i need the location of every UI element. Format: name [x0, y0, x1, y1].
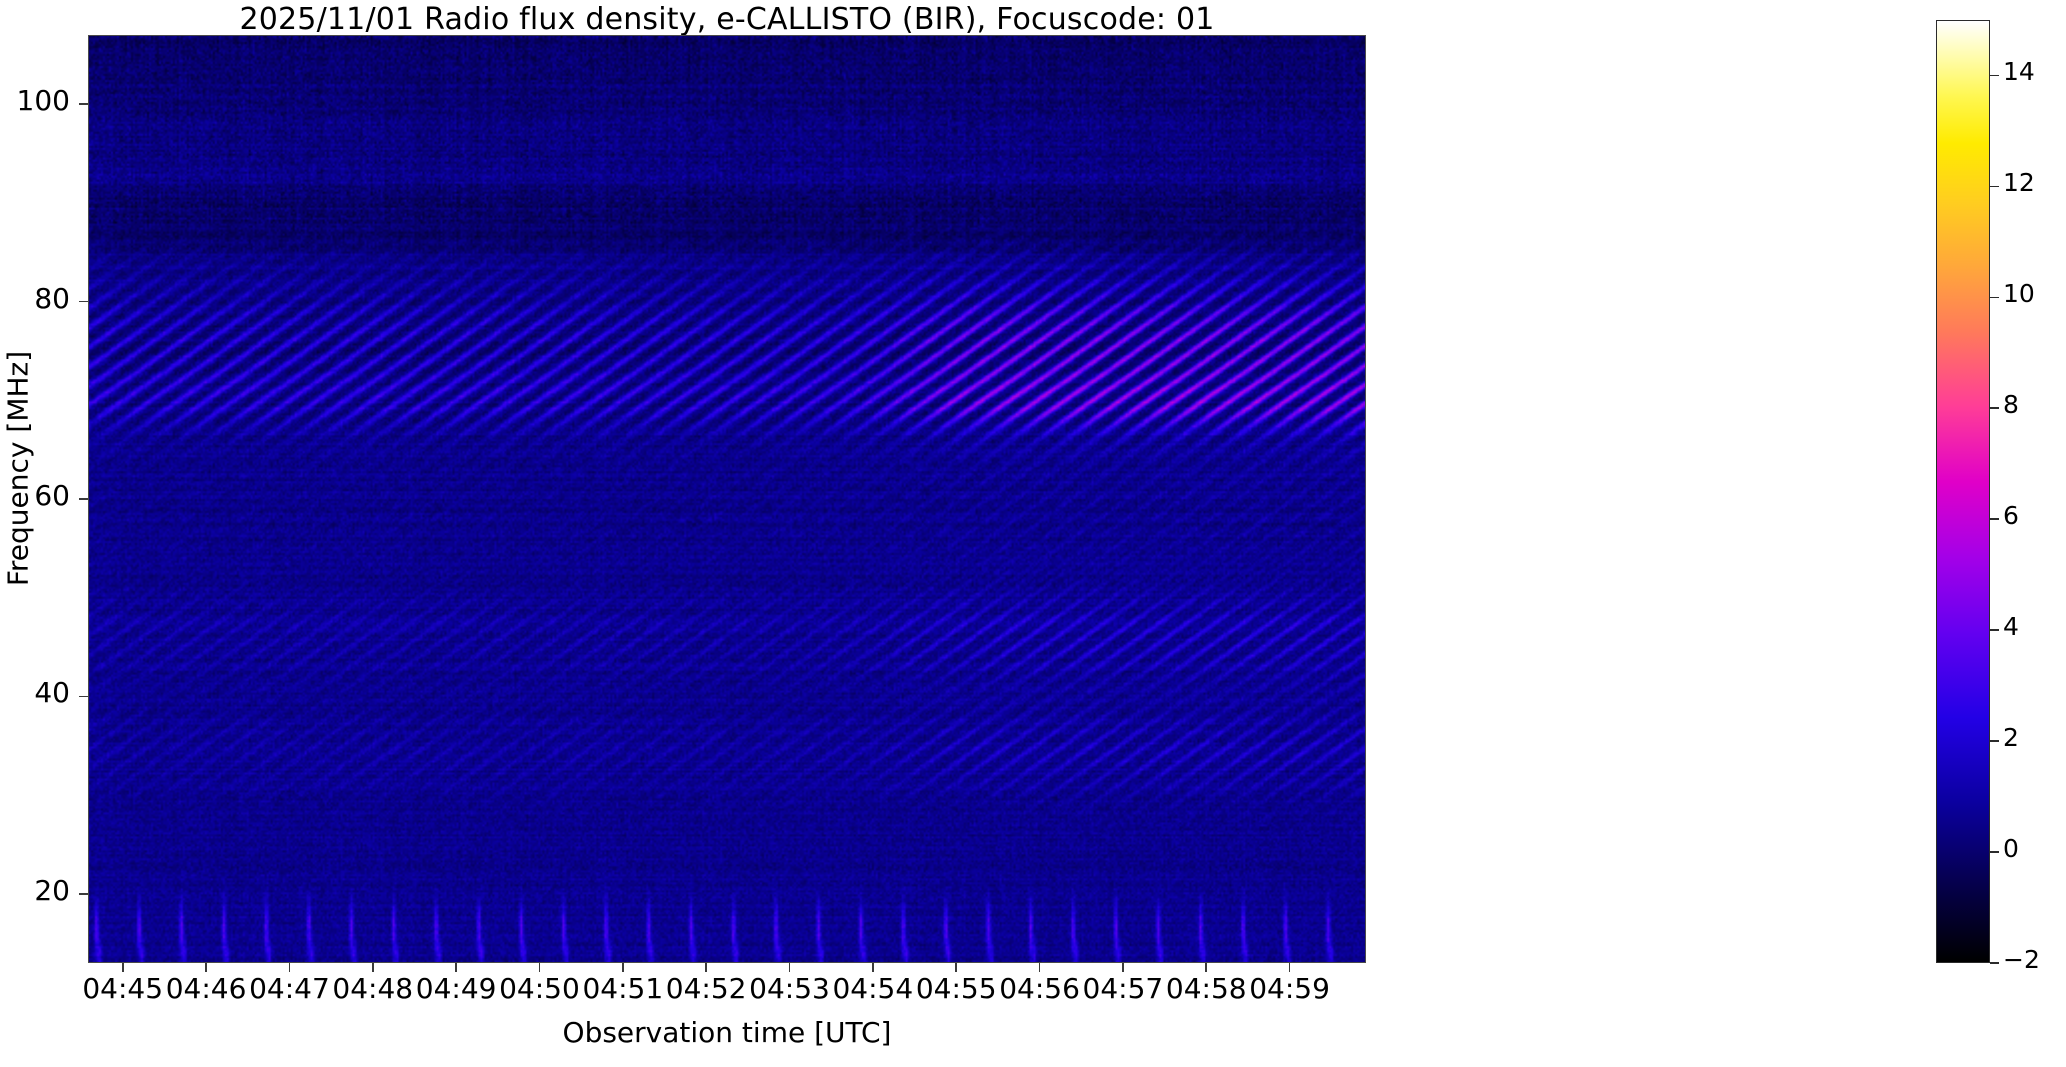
x-axis-label: Observation time [UTC] — [88, 1016, 1366, 1049]
x-tick-mark — [455, 963, 457, 972]
y-tick-label: 20 — [0, 874, 70, 907]
spectrogram-image — [89, 36, 1365, 962]
y-tick-mark — [79, 498, 88, 500]
x-tick-mark — [705, 963, 707, 972]
y-tick-mark — [79, 893, 88, 895]
colorbar-tick-mark — [1990, 962, 1999, 964]
spectrogram-axes[interactable] — [88, 35, 1366, 963]
x-tick-mark — [1205, 963, 1207, 972]
x-tick-mark — [955, 963, 957, 972]
colorbar-tick-label: 12 — [2003, 168, 2063, 197]
colorbar-tick-mark — [1990, 407, 1999, 409]
y-axis-label: Frequency [MHz] — [2, 4, 35, 934]
y-tick-mark — [79, 301, 88, 303]
colorbar-tick-label: 14 — [2003, 57, 2063, 86]
colorbar-gradient[interactable] — [1936, 20, 1990, 963]
y-tick-label: 40 — [0, 676, 70, 709]
colorbar-tick-label: −2 — [2003, 945, 2063, 974]
x-tick-mark — [205, 963, 207, 972]
y-tick-mark — [79, 696, 88, 698]
y-tick-label: 60 — [0, 479, 70, 512]
x-tick-mark — [872, 963, 874, 972]
colorbar-tick-mark — [1990, 75, 1999, 77]
colorbar-tick-label: 0 — [2003, 834, 2063, 863]
x-tick-mark — [622, 963, 624, 972]
y-tick-label: 80 — [0, 282, 70, 315]
colorbar-tick-mark — [1990, 740, 1999, 742]
figure-title: 2025/11/01 Radio flux density, e-CALLIST… — [88, 2, 1366, 37]
colorbar-tick-label: 8 — [2003, 390, 2063, 419]
colorbar-tick-mark — [1990, 851, 1999, 853]
colorbar-tick-label: 4 — [2003, 612, 2063, 641]
colorbar-tick-mark — [1990, 518, 1999, 520]
x-tick-label: 04:59 — [1210, 972, 1370, 1005]
x-tick-mark — [289, 963, 291, 972]
x-tick-mark — [1289, 963, 1291, 972]
colorbar-tick-mark — [1990, 297, 1999, 299]
x-tick-mark — [372, 963, 374, 972]
colorbar-tick-label: 6 — [2003, 501, 2063, 530]
y-tick-label: 100 — [0, 84, 70, 117]
x-tick-mark — [789, 963, 791, 972]
colorbar-tick-mark — [1990, 629, 1999, 631]
x-tick-mark — [1122, 963, 1124, 972]
colorbar-tick-mark — [1990, 186, 1999, 188]
x-tick-mark — [539, 963, 541, 972]
colorbar-tick-label: 10 — [2003, 279, 2063, 308]
spectrogram-figure: 2025/11/01 Radio flux density, e-CALLIST… — [0, 0, 2066, 1067]
x-tick-mark — [1039, 963, 1041, 972]
x-tick-mark — [122, 963, 124, 972]
y-tick-mark — [79, 103, 88, 105]
colorbar-tick-label: 2 — [2003, 723, 2063, 752]
